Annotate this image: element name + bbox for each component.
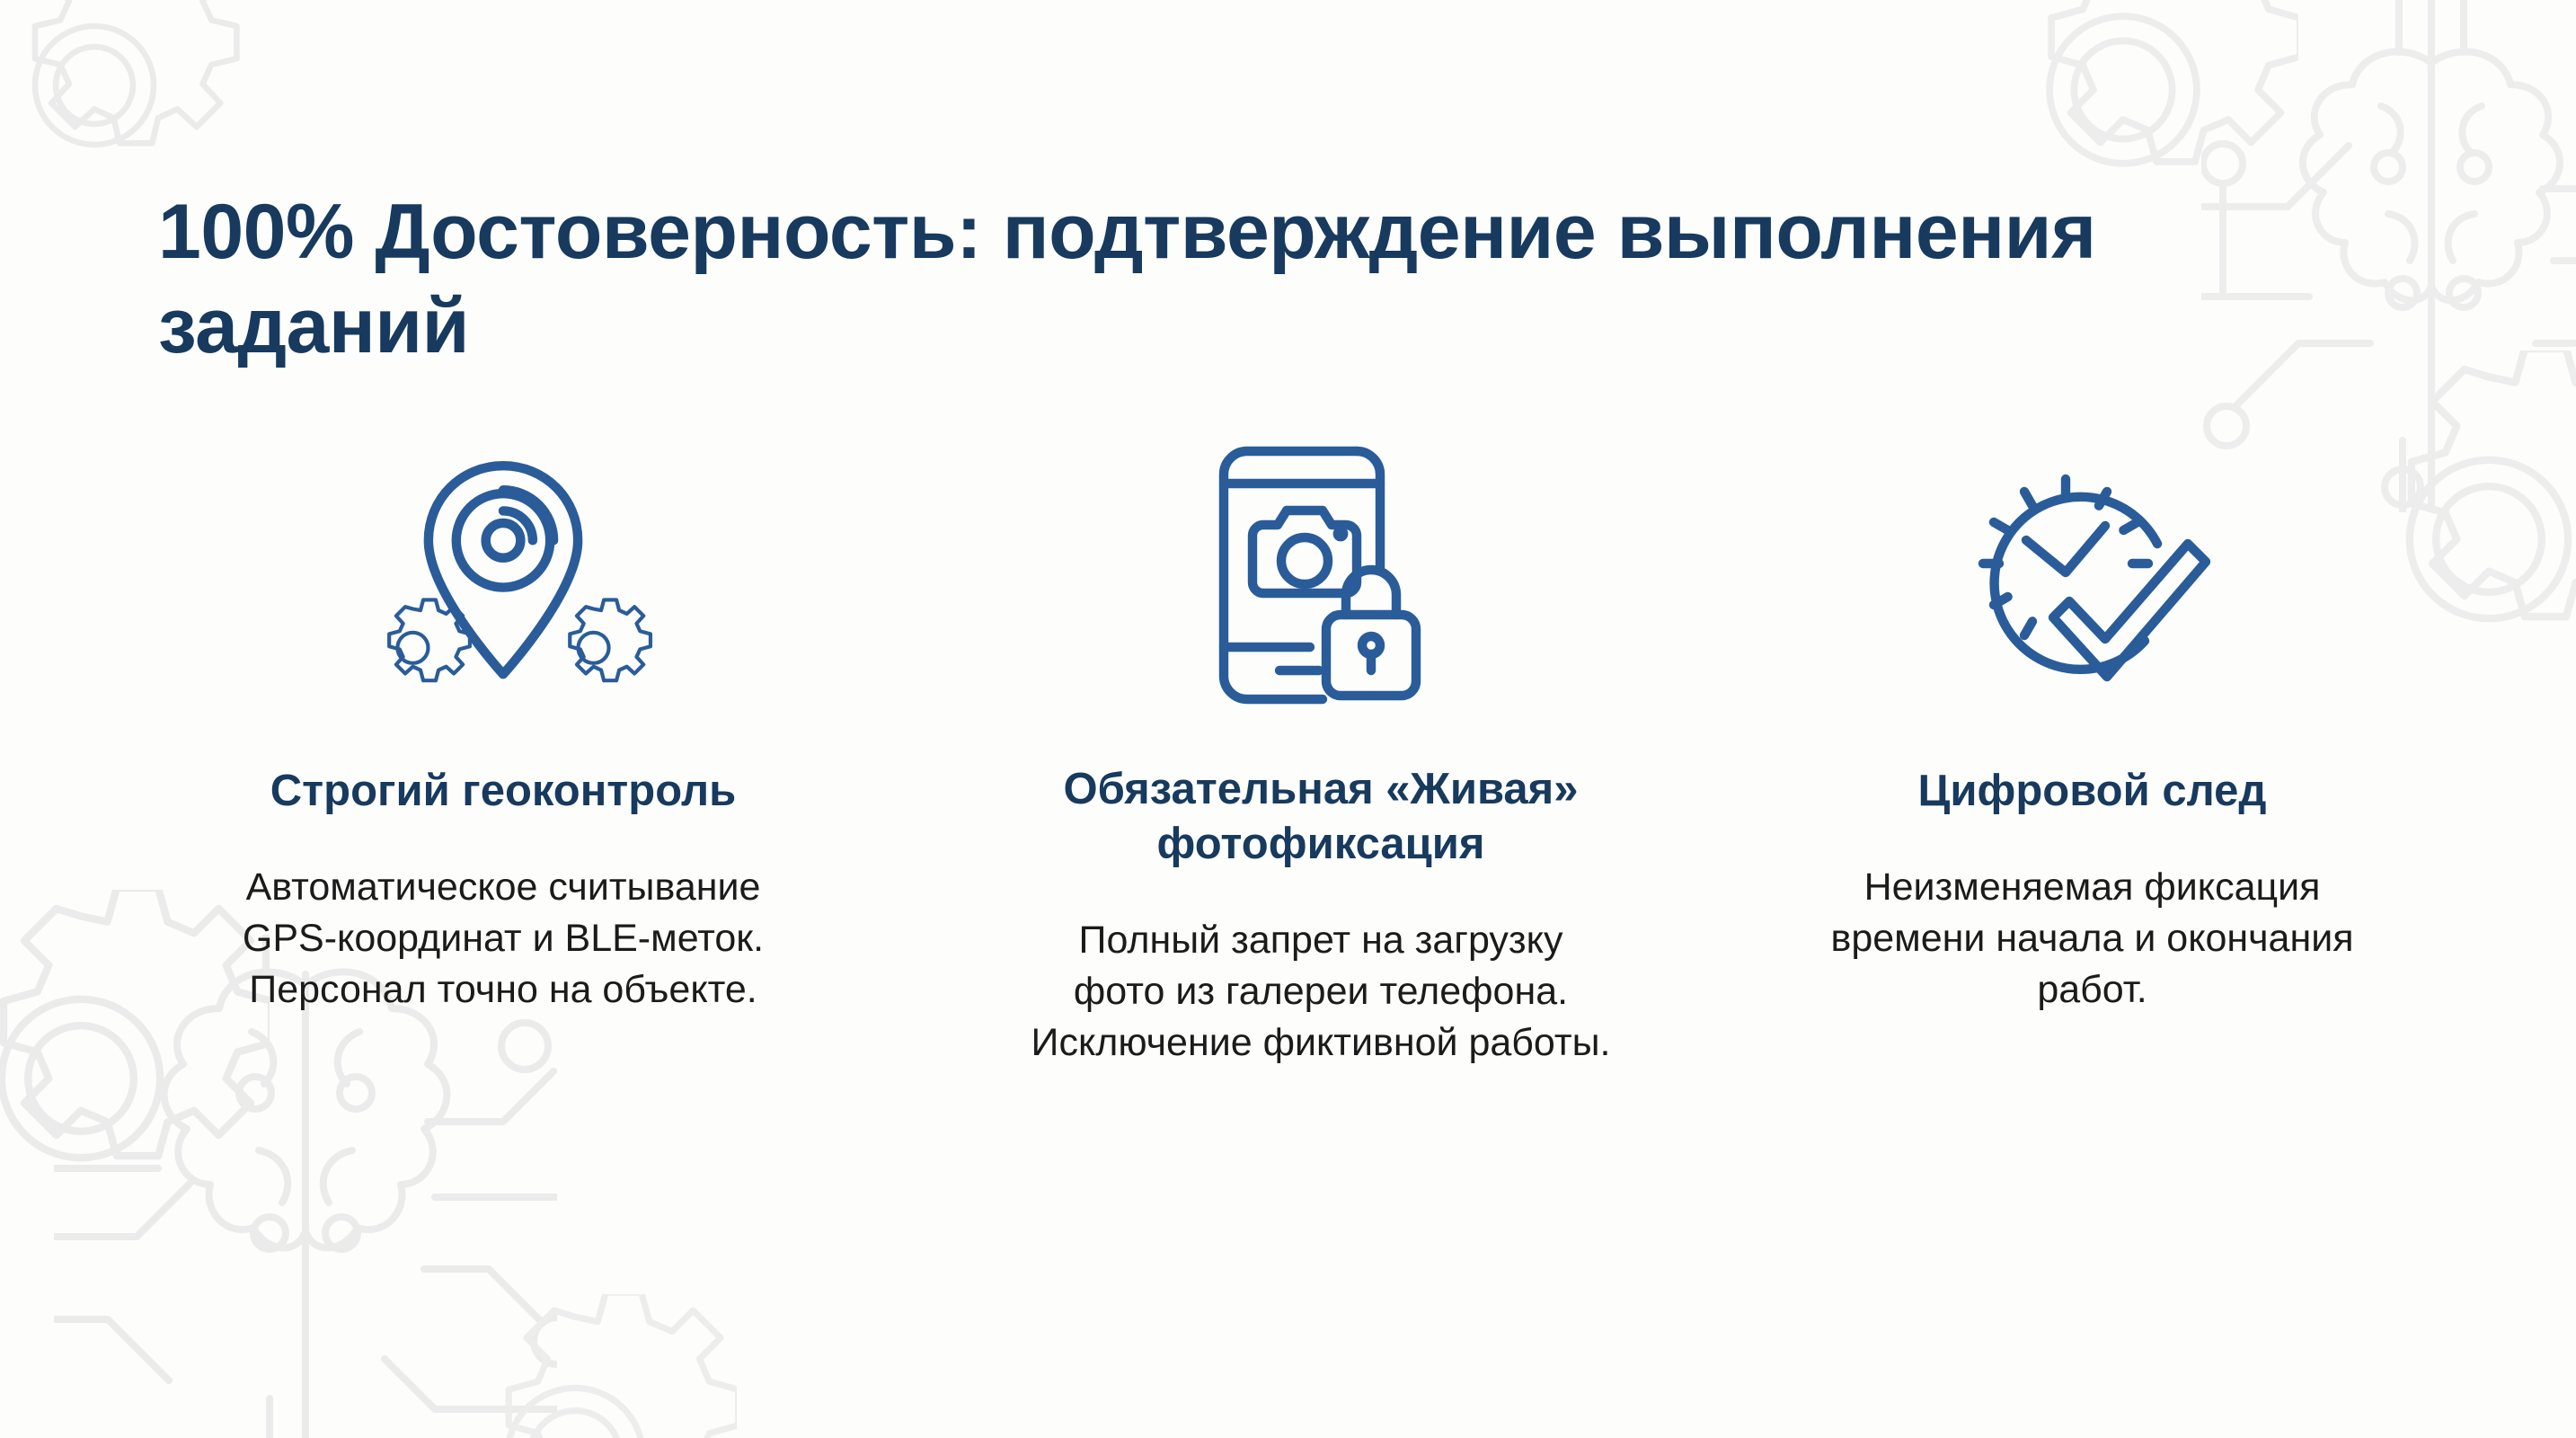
feature-card-title: Строгий геоконтроль <box>270 764 736 819</box>
feature-card-title: Цифровой след <box>1918 764 2267 819</box>
geo-pin-signal-gears-icon <box>346 440 660 710</box>
feature-card-body: Полный запрет на загрузку фото из галере… <box>1031 915 1611 1070</box>
gear-watermark-bottom-center <box>413 1294 737 1438</box>
feature-card-digital-trace: Цифровой след Неизменяемая фиксация врем… <box>1725 440 2576 1069</box>
phone-camera-lock-icon <box>1208 440 1434 710</box>
feature-card-body: Неизменяемая фиксация времени начала и о… <box>1830 862 2353 1016</box>
feature-card-title: Обязательная «Живая» фотофиксация <box>979 762 1662 872</box>
slide-canvas: 100% Достоверность: подтверждение выполн… <box>0 0 2576 1438</box>
clock-checkmark-icon <box>1958 440 2227 710</box>
feature-card-geocontrol: Строгий геоконтроль Автоматическое считы… <box>0 440 916 1069</box>
feature-columns: Строгий геоконтроль Автоматическое считы… <box>0 440 2576 1069</box>
feature-card-body: Автоматическое считывание GPS-координат … <box>243 862 764 1016</box>
slide-title: 100% Достоверность: подтверждение выполн… <box>158 185 2422 374</box>
feature-card-photo: Обязательная «Живая» фотофиксация Полный… <box>916 440 1725 1069</box>
